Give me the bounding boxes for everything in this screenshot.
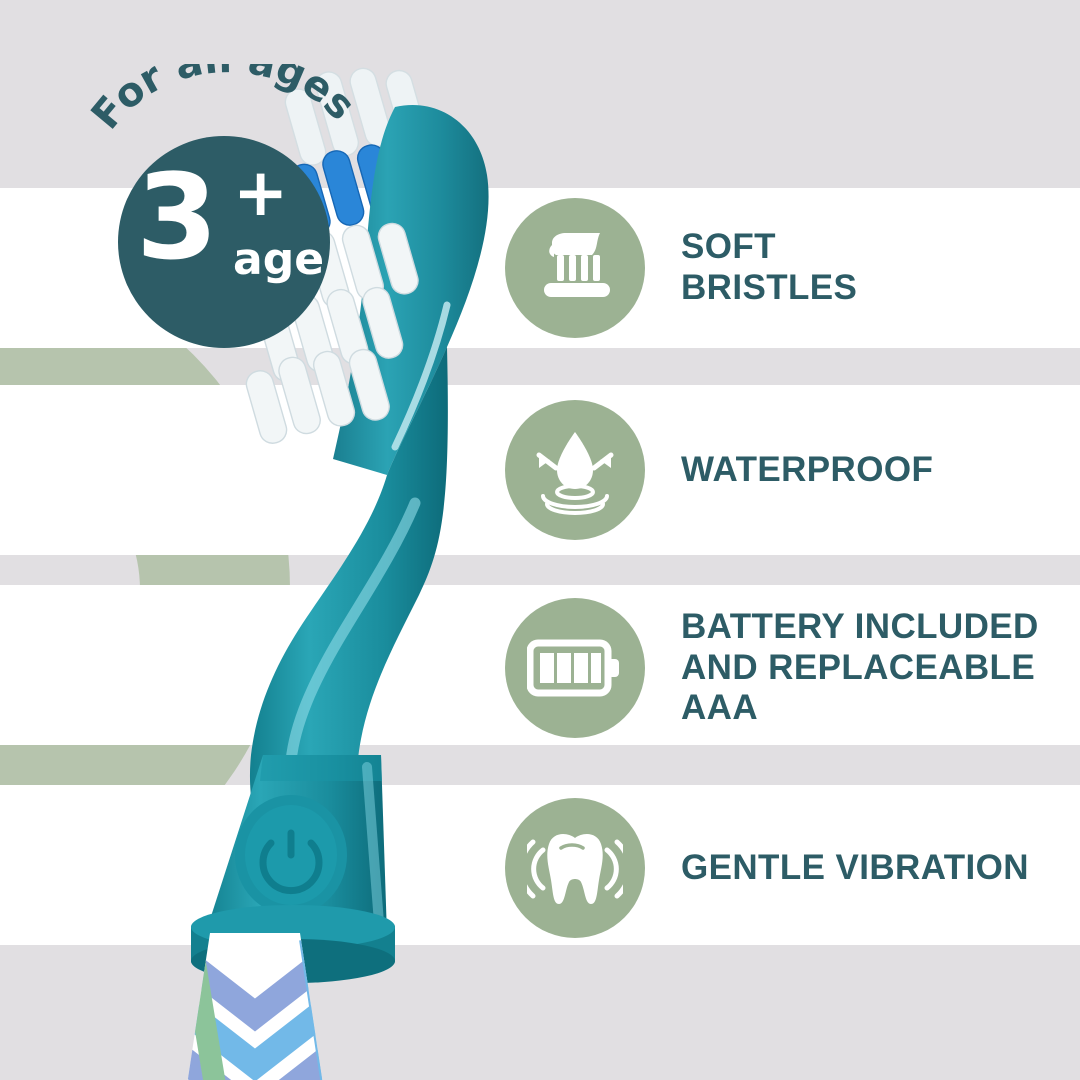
feature-label-2: WATERPROOF (681, 450, 933, 491)
feature-row-4[interactable]: GENTLE VIBRATION (505, 798, 1029, 938)
age-number: 3 (136, 158, 218, 276)
age-badge: For all ages 3 + age (96, 68, 366, 318)
power-button (235, 795, 347, 915)
feature-label-4: GENTLE VIBRATION (681, 848, 1029, 889)
tooth-vibration-icon (505, 798, 645, 938)
battery-icon (505, 598, 645, 738)
feature-label-3: BATTERY INCLUDED AND REPLACEABLE AAA (681, 607, 1039, 729)
svg-text:For all ages: For all ages (83, 64, 364, 138)
feature-row-1[interactable]: SOFT BRISTLES (505, 198, 857, 338)
feature-row-3[interactable]: BATTERY INCLUDED AND REPLACEABLE AAA (505, 598, 1039, 738)
feature-label-1: SOFT BRISTLES (681, 227, 857, 308)
age-word: age (233, 238, 324, 282)
water-drop-repel-icon (505, 400, 645, 540)
feature-row-2[interactable]: WATERPROOF (505, 400, 933, 540)
age-plus-sign: + (233, 160, 288, 226)
infographic-canvas: For all ages 3 + age SOFT BRISTLES (0, 0, 1080, 1080)
toothpaste-bristles-icon (505, 198, 645, 338)
